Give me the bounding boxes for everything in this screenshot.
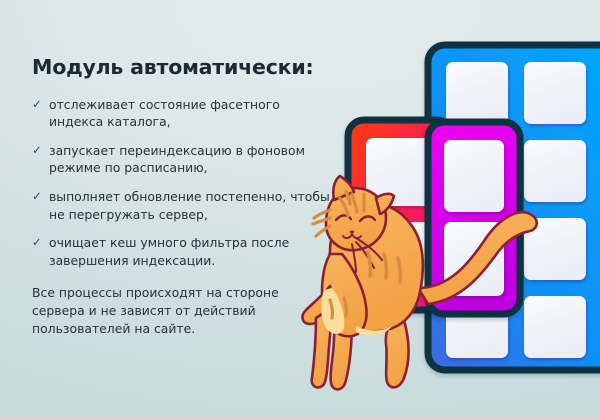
list-item: ✓ запускает переиндексацию в фоновом реж… (32, 142, 332, 177)
closing-paragraph: Все процессы происходят на стороне серве… (32, 284, 304, 338)
text-column: Модуль автоматически: ✓ отслеживает сост… (32, 56, 332, 338)
slide-canvas: Модуль автоматически: ✓ отслеживает сост… (0, 0, 600, 419)
page-title: Модуль автоматически: (32, 56, 332, 80)
check-icon: ✓ (32, 96, 42, 112)
list-item: ✓ выполняет обновление постепенно, чтобы… (32, 188, 332, 223)
check-icon: ✓ (32, 188, 42, 204)
list-item-label: очищает кеш умного фильтра после заверше… (49, 235, 289, 268)
list-item-label: выполняет обновление постепенно, чтобы н… (49, 189, 330, 222)
feature-list: ✓ отслеживает состояние фасетного индекс… (32, 96, 332, 270)
check-icon: ✓ (32, 142, 42, 158)
list-item: ✓ отслеживает состояние фасетного индекс… (32, 96, 332, 131)
list-item-label: отслеживает состояние фасетного индекса … (49, 97, 280, 130)
list-item-label: запускает переиндексацию в фоновом режим… (49, 143, 305, 176)
list-item: ✓ очищает кеш умного фильтра после завер… (32, 234, 332, 269)
check-icon: ✓ (32, 234, 42, 250)
